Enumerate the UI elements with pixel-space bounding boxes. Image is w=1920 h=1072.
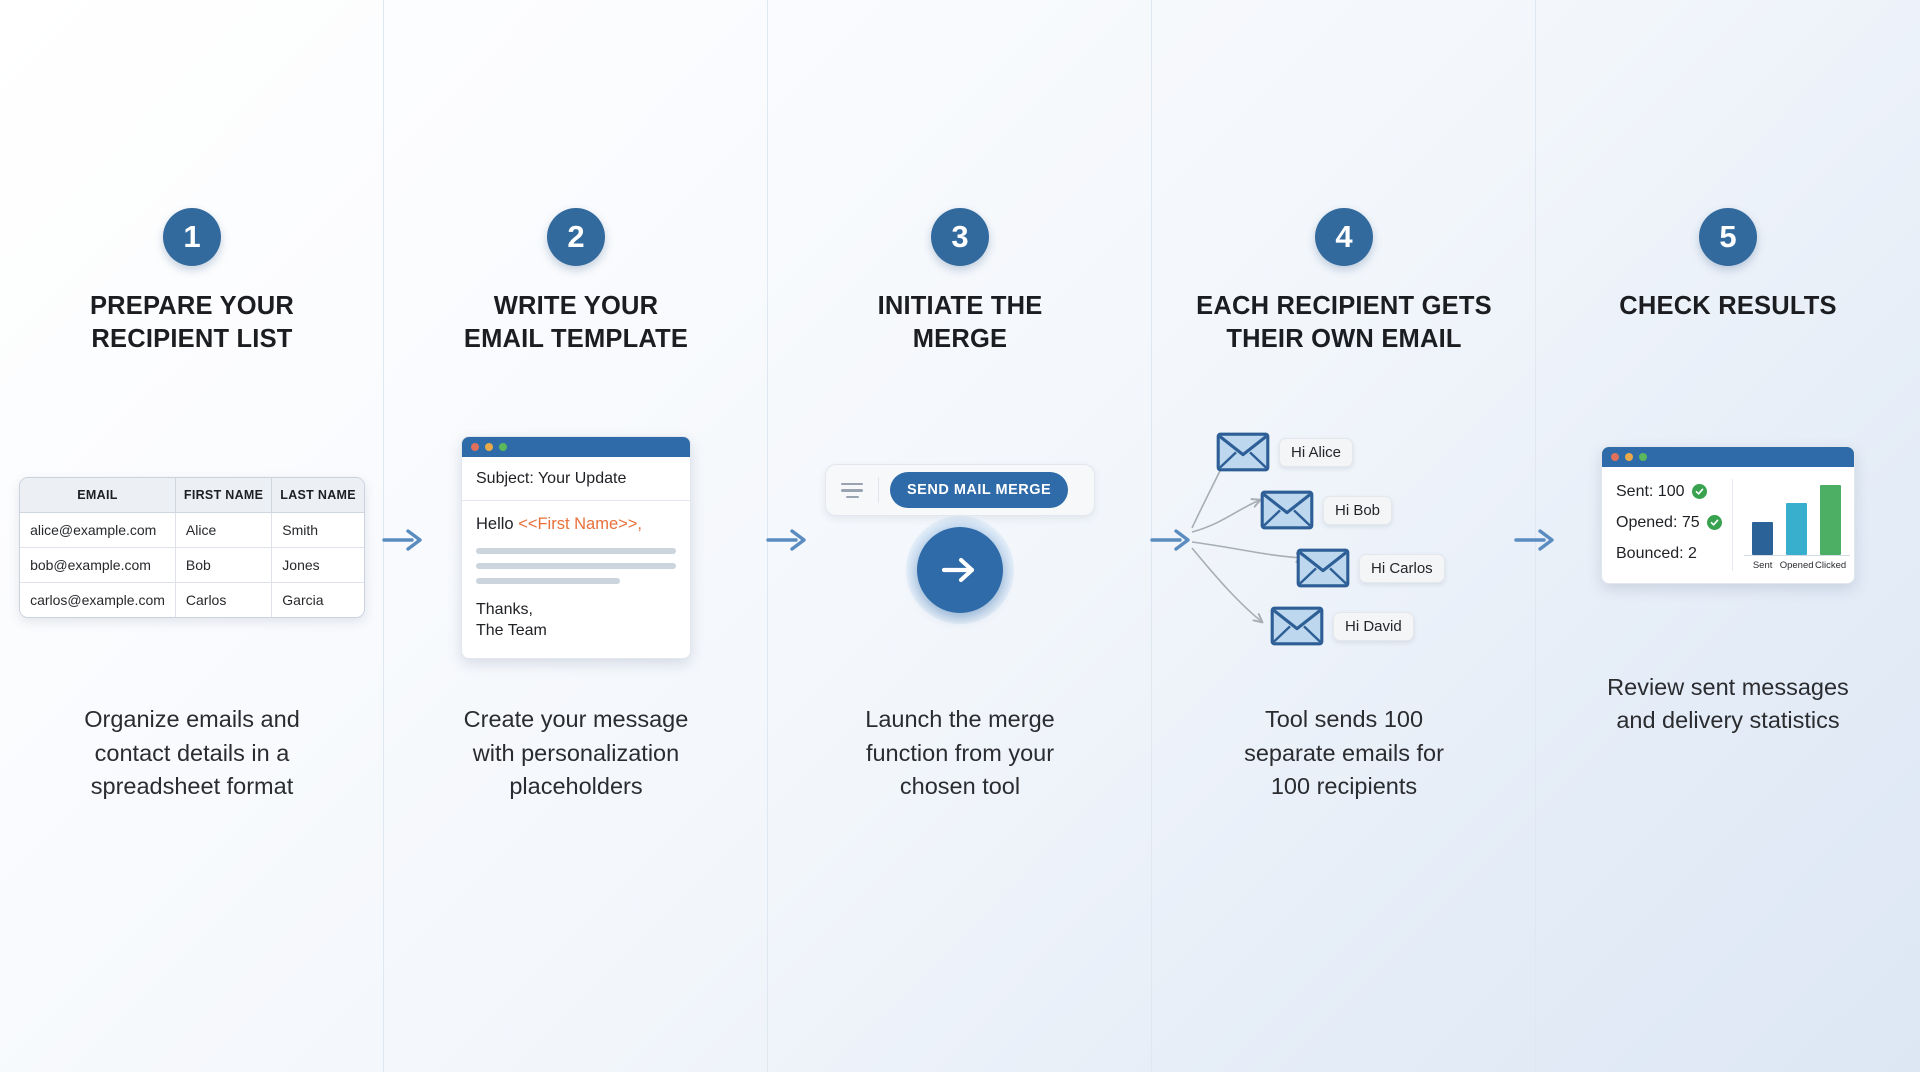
recipient-email-1: Hi Alice — [1216, 432, 1353, 472]
delivery-stats-list: Sent: 100 Opened: 75 Bounc — [1602, 479, 1733, 571]
recipient-email-4: Hi David — [1270, 606, 1414, 646]
bar-clicked — [1820, 485, 1841, 555]
step-visual-2: Subject: Your Update Hello <<First Name>… — [384, 397, 768, 697]
email-template-window[interactable]: Subject: Your Update Hello <<First Name>… — [461, 436, 691, 659]
fanout-scene: Hi Alice Hi Bob Hi C — [1174, 432, 1514, 662]
step-caption-2: Create your message with personalization… — [464, 703, 689, 803]
envelope-icon — [1296, 548, 1350, 588]
step-title-5: CHECK RESULTS — [1619, 290, 1836, 323]
step-column-3: 3 INITIATE THE MERGE SEND MAIL MERGE — [768, 0, 1152, 1072]
cell-last-name: Smith — [272, 512, 364, 547]
stat-label: Bounced: 2 — [1616, 545, 1697, 563]
flow-connector-arrow-3 — [1148, 525, 1196, 555]
step-number-badge-5: 5 — [1699, 208, 1757, 266]
greeting-prefix: Hello — [476, 515, 518, 533]
stat-label: Opened: 75 — [1616, 514, 1700, 532]
merge-launch-control — [900, 510, 1020, 630]
column-header-last-name: LAST NAME — [272, 478, 364, 513]
arrow-right-icon — [937, 554, 983, 586]
cell-email: bob@example.com — [20, 547, 175, 582]
chart-bars — [1744, 483, 1850, 556]
email-signature: Thanks, The Team — [476, 600, 676, 642]
bar-sent — [1752, 522, 1773, 554]
results-body: Sent: 100 Opened: 75 Bounc — [1602, 467, 1854, 583]
maximize-dot-icon[interactable] — [1639, 453, 1647, 461]
delivery-bar-chart: Sent Opened Clicked — [1733, 479, 1855, 571]
check-icon — [1707, 515, 1722, 530]
envelope-icon — [1260, 490, 1314, 530]
step-title-3: INITIATE THE MERGE — [878, 290, 1043, 355]
cell-last-name: Jones — [272, 547, 364, 582]
step-title-4: EACH RECIPIENT GETS THEIR OWN EMAIL — [1196, 290, 1492, 355]
stat-label: Sent: 100 — [1616, 483, 1685, 501]
window-title-bar — [1602, 447, 1854, 467]
cell-last-name: Garcia — [272, 582, 364, 617]
bar-opened — [1786, 503, 1807, 555]
flow-connector-arrow-1 — [380, 525, 428, 555]
minimize-dot-icon[interactable] — [485, 443, 493, 451]
email-subject-line: Subject: Your Update — [462, 457, 690, 501]
step-visual-1: EMAIL FIRST NAME LAST NAME alice@example… — [0, 397, 384, 697]
window-title-bar — [462, 437, 690, 457]
recipient-label: Hi Carlos — [1359, 554, 1445, 583]
body-placeholder-line — [476, 578, 620, 584]
step-column-1: 1 PREPARE YOUR RECIPIENT LIST EMAIL FIRS… — [0, 0, 384, 1072]
envelope-icon — [1270, 606, 1324, 646]
flow-connector-arrow-2 — [764, 525, 812, 555]
cell-email: alice@example.com — [20, 512, 175, 547]
step-caption-3: Launch the merge function from your chos… — [865, 703, 1054, 803]
results-window[interactable]: Sent: 100 Opened: 75 Bounc — [1601, 446, 1855, 584]
recipient-spreadsheet[interactable]: EMAIL FIRST NAME LAST NAME alice@example… — [19, 477, 365, 618]
step-title-2: WRITE YOUR EMAIL TEMPLATE — [464, 290, 688, 355]
recipient-label: Hi Bob — [1323, 496, 1392, 525]
step-visual-3: SEND MAIL MERGE — [768, 397, 1152, 697]
x-label-sent: Sent — [1746, 560, 1780, 571]
merge-tool-widget: SEND MAIL MERGE — [825, 464, 1095, 630]
step-title-1: PREPARE YOUR RECIPIENT LIST — [90, 290, 294, 355]
table-row[interactable]: carlos@example.com Carlos Garcia — [20, 582, 364, 617]
cell-first-name: Alice — [175, 512, 271, 547]
step-visual-4: Hi Alice Hi Bob Hi C — [1152, 397, 1536, 697]
step-number-badge-4: 4 — [1315, 208, 1373, 266]
email-greeting: Hello <<First Name>>, — [476, 515, 676, 534]
send-mail-merge-button[interactable]: SEND MAIL MERGE — [890, 472, 1068, 508]
step-column-5: 5 CHECK RESULTS Sent: 100 — [1536, 0, 1920, 1072]
recipient-label: Hi Alice — [1279, 438, 1353, 467]
body-placeholder-line — [476, 548, 676, 554]
step-caption-4: Tool sends 100 separate emails for 100 r… — [1244, 703, 1444, 803]
list-lines-icon[interactable] — [826, 477, 879, 503]
table-header-row: EMAIL FIRST NAME LAST NAME — [20, 478, 364, 513]
mail-merge-process-flow: 1 PREPARE YOUR RECIPIENT LIST EMAIL FIRS… — [0, 0, 1920, 1072]
cell-first-name: Bob — [175, 547, 271, 582]
step-visual-5: Sent: 100 Opened: 75 Bounc — [1536, 365, 1920, 665]
close-dot-icon[interactable] — [1611, 453, 1619, 461]
body-placeholder-line — [476, 563, 676, 569]
email-body: Hello <<First Name>>, Thanks, The Team — [462, 501, 690, 658]
chart-x-axis-labels: Sent Opened Clicked — [1744, 556, 1850, 571]
step-column-2: 2 WRITE YOUR EMAIL TEMPLATE Subject: You… — [384, 0, 768, 1072]
recipient-email-2: Hi Bob — [1260, 490, 1392, 530]
step-column-4: 4 EACH RECIPIENT GETS THEIR OWN EMAIL — [1152, 0, 1536, 1072]
launch-merge-button[interactable] — [917, 527, 1003, 613]
stat-opened: Opened: 75 — [1616, 514, 1722, 532]
cell-email: carlos@example.com — [20, 582, 175, 617]
step-caption-1: Organize emails and contact details in a… — [84, 703, 300, 803]
column-header-first-name: FIRST NAME — [175, 478, 271, 513]
step-caption-5: Review sent messages and delivery statis… — [1607, 671, 1849, 738]
check-icon — [1692, 484, 1707, 499]
envelope-icon — [1216, 432, 1270, 472]
recipient-email-3: Hi Carlos — [1296, 548, 1445, 588]
stat-bounced: Bounced: 2 — [1616, 545, 1722, 563]
merge-field-token: <<First Name>>, — [518, 515, 642, 533]
x-label-clicked: Clicked — [1814, 560, 1848, 571]
flow-connector-arrow-4 — [1512, 525, 1560, 555]
step-number-badge-3: 3 — [931, 208, 989, 266]
table-row[interactable]: bob@example.com Bob Jones — [20, 547, 364, 582]
minimize-dot-icon[interactable] — [1625, 453, 1633, 461]
step-number-badge-1: 1 — [163, 208, 221, 266]
maximize-dot-icon[interactable] — [499, 443, 507, 451]
merge-toolbar: SEND MAIL MERGE — [825, 464, 1095, 516]
table-row[interactable]: alice@example.com Alice Smith — [20, 512, 364, 547]
cell-first-name: Carlos — [175, 582, 271, 617]
close-dot-icon[interactable] — [471, 443, 479, 451]
recipient-label: Hi David — [1333, 612, 1414, 641]
x-label-opened: Opened — [1780, 560, 1814, 571]
stat-sent: Sent: 100 — [1616, 483, 1722, 501]
step-number-badge-2: 2 — [547, 208, 605, 266]
column-header-email: EMAIL — [20, 478, 175, 513]
